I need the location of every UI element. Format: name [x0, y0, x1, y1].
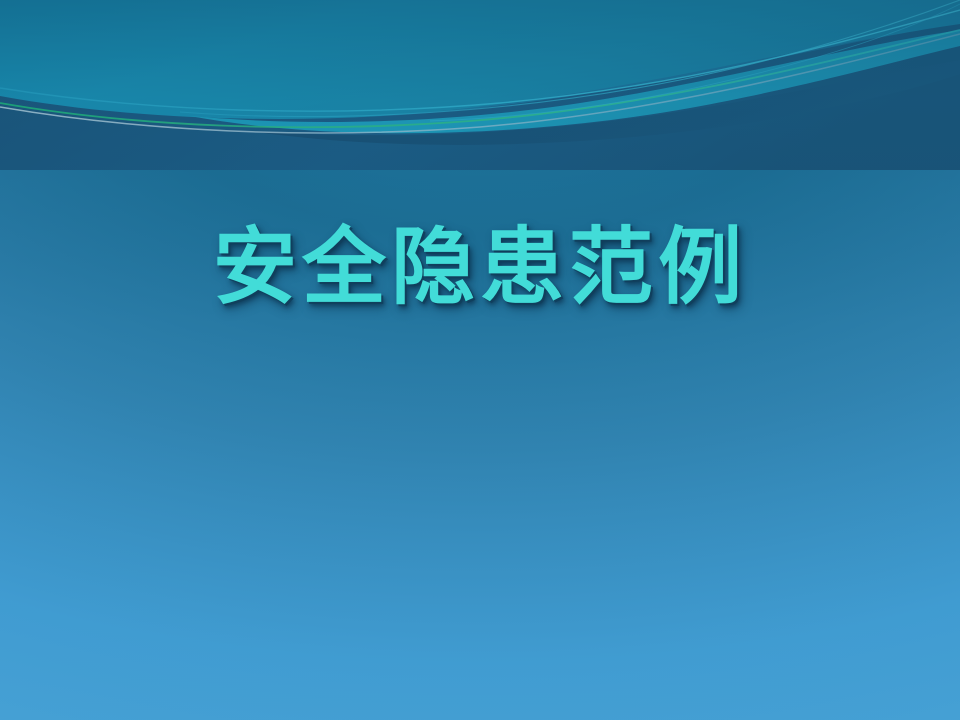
- wave-decoration: [0, 0, 960, 170]
- wave-decoration-svg: [0, 0, 960, 170]
- slide-title: 安全隐患范例: [213, 222, 747, 313]
- title-placeholder[interactable]: 安全隐患范例: [0, 222, 960, 313]
- presentation-slide: 安全隐患范例: [0, 0, 960, 720]
